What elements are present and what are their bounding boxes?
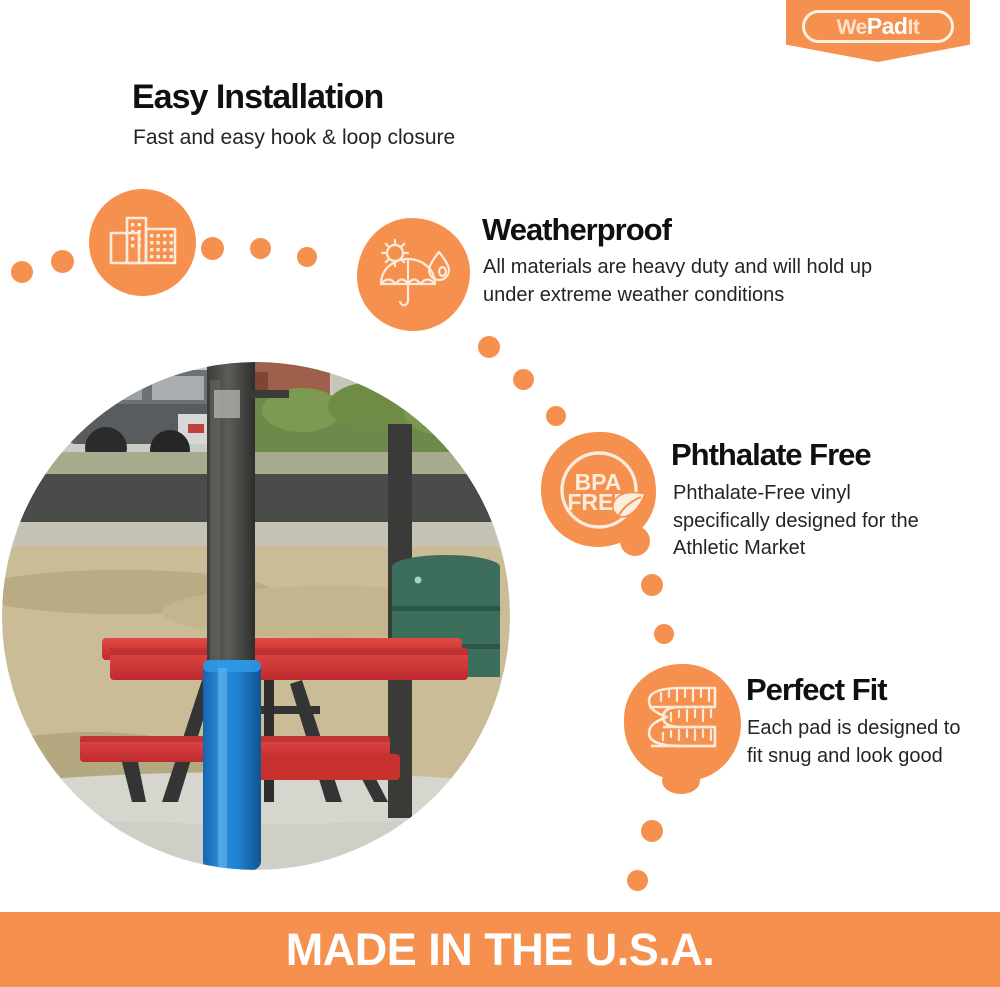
trail-dot bbox=[641, 820, 663, 842]
product-photo bbox=[2, 362, 510, 870]
trail-dot bbox=[478, 336, 500, 358]
trail-dot bbox=[250, 238, 271, 259]
trail-dot bbox=[11, 261, 33, 283]
brand-logo-text: WePadIt bbox=[837, 15, 920, 38]
feature-description-phthalate-free: Phthalate-Free vinyl specifically design… bbox=[673, 480, 933, 563]
trail-dot bbox=[201, 237, 224, 260]
feature-description-weatherproof: All materials are heavy duty and will ho… bbox=[483, 254, 903, 309]
trail-dot bbox=[654, 624, 674, 644]
feature-description-perfect-fit: Each pad is designed to fit snug and loo… bbox=[747, 715, 972, 770]
brand-logo-badge: WePadIt bbox=[786, 0, 970, 62]
made-in-usa-banner: MADE IN THE U.S.A. bbox=[0, 912, 1000, 987]
trail-dot bbox=[51, 250, 74, 273]
feature-title-easy-installation: Easy Installation bbox=[132, 78, 383, 117]
logo-text-pad: Pad bbox=[867, 13, 908, 39]
office-building-icon bbox=[89, 189, 196, 296]
umbrella-sun-raindrop-icon bbox=[357, 218, 470, 331]
trail-dot bbox=[627, 870, 648, 891]
infographic-page: WePadIt Easy Installation Fast and easy … bbox=[0, 0, 1000, 987]
made-in-usa-banner-text: MADE IN THE U.S.A. bbox=[286, 924, 715, 976]
feature-title-phthalate-free: Phthalate Free bbox=[671, 437, 871, 473]
bpa-free-leaf-icon: BPA FREE bbox=[541, 432, 656, 547]
feature-description-easy-installation: Fast and easy hook & loop closure bbox=[133, 124, 553, 153]
brand-logo-frame: WePadIt bbox=[802, 10, 954, 43]
feature-title-perfect-fit: Perfect Fit bbox=[746, 672, 887, 708]
trail-dot bbox=[546, 406, 566, 426]
measuring-tape-icon bbox=[624, 664, 741, 781]
trail-dot bbox=[641, 574, 663, 596]
trail-dot bbox=[513, 369, 534, 390]
logo-text-we: We bbox=[837, 16, 867, 39]
feature-title-weatherproof: Weatherproof bbox=[482, 212, 671, 248]
logo-text-it: It bbox=[907, 16, 919, 39]
trail-dot bbox=[297, 247, 317, 267]
